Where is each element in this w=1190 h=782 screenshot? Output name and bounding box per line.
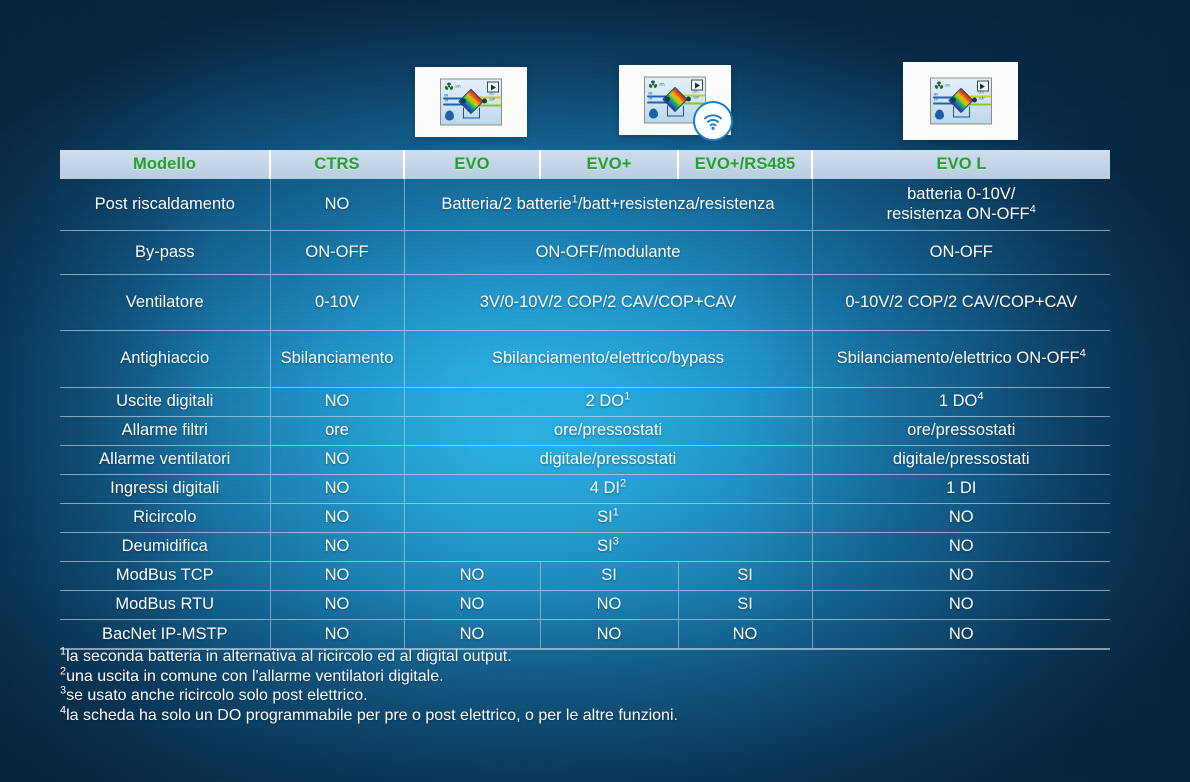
specification-table: ModelloCTRSEVOEVO+EVO+/RS485EVO L Post r… bbox=[60, 150, 1110, 648]
table-cell: 0-10V bbox=[270, 274, 404, 330]
table-cell: NO bbox=[404, 561, 540, 590]
table-cell: NO bbox=[270, 179, 404, 230]
footnotes-block: 1la seconda batteria in alternativa al r… bbox=[60, 647, 1120, 725]
wifi-badge bbox=[693, 101, 733, 141]
table-cell: SI bbox=[540, 561, 678, 590]
water-drop-icon bbox=[445, 111, 454, 121]
slide-page: 28%ONINOUTSUP28%ONINOUTSUP28%ONINOUTSUP … bbox=[0, 0, 1190, 782]
table-body: Post riscaldamentoNOBatteria/2 batterie1… bbox=[60, 179, 1110, 648]
lcd-sensor-node-1 bbox=[665, 97, 670, 102]
lcd-sensor-node-1 bbox=[951, 98, 956, 103]
footnote-2: 2una uscita in comune con l'allarme vent… bbox=[60, 667, 1120, 687]
row-label: ModBus TCP bbox=[60, 561, 270, 590]
table-cell: SI1 bbox=[404, 503, 812, 532]
table-cell: SI3 bbox=[404, 532, 812, 561]
table-row: BacNet IP-MSTPNONONONONO bbox=[60, 619, 1110, 648]
table-row: ModBus TCPNONOSISINO bbox=[60, 561, 1110, 590]
table-cell: 4 DI2 bbox=[404, 474, 812, 503]
table-cell: NO bbox=[270, 503, 404, 532]
table-cell: NO bbox=[540, 619, 678, 648]
table-cell: digitale/pressostati bbox=[404, 445, 812, 474]
controller-lcd-screen: 28%ONINOUTSUP bbox=[930, 78, 992, 125]
table-cell: NO bbox=[270, 474, 404, 503]
table-cell: NO bbox=[270, 590, 404, 619]
lcd-sensor-node-1 bbox=[461, 99, 466, 104]
table-cell: 3V/0-10V/2 COP/2 CAV/COP+CAV bbox=[404, 274, 812, 330]
row-label: Uscite digitali bbox=[60, 387, 270, 416]
table-header-row: ModelloCTRSEVOEVO+EVO+/RS485EVO L bbox=[60, 150, 1110, 179]
row-label: ModBus RTU bbox=[60, 590, 270, 619]
water-drop-icon bbox=[649, 109, 658, 119]
table-row: Allarme filtrioreore/pressostatiore/pres… bbox=[60, 416, 1110, 445]
row-label: Ricircolo bbox=[60, 503, 270, 532]
fan-icon bbox=[934, 81, 944, 91]
table-cell: NO bbox=[404, 590, 540, 619]
lcd-readout-text-3: IN bbox=[934, 98, 938, 102]
lcd-readout-text-1: 28% bbox=[945, 84, 951, 88]
table-row: Ingressi digitaliNO4 DI21 DI bbox=[60, 474, 1110, 503]
table-cell: 2 DO1 bbox=[404, 387, 812, 416]
table-cell: NO bbox=[404, 619, 540, 648]
table-cell: Sbilanciamento/elettrico ON-OFF4 bbox=[812, 330, 1110, 387]
table-cell: ON-OFF bbox=[812, 230, 1110, 274]
table-cell: ore bbox=[270, 416, 404, 445]
fan-icon bbox=[648, 80, 658, 90]
lcd-unit-outline bbox=[953, 107, 970, 118]
row-label: Antighiaccio bbox=[60, 330, 270, 387]
water-drop-icon bbox=[935, 110, 944, 120]
lcd-readout-text-5: SUP bbox=[979, 97, 985, 101]
lcd-sensor-node-2 bbox=[482, 99, 487, 104]
specification-table-container: ModelloCTRSEVOEVO+EVO+/RS485EVO L Post r… bbox=[60, 150, 1110, 650]
table-cell: NO bbox=[812, 619, 1110, 648]
table-cell: NO bbox=[812, 590, 1110, 619]
lcd-readout-text-5: SUP bbox=[693, 96, 699, 100]
table-cell: ON-OFF bbox=[270, 230, 404, 274]
row-label: Ventilatore bbox=[60, 274, 270, 330]
row-label: By-pass bbox=[60, 230, 270, 274]
table-cell: Sbilanciamento/elettrico/bypass bbox=[404, 330, 812, 387]
lcd-readout-text-3: IN bbox=[444, 99, 448, 103]
lcd-unit-outline bbox=[667, 106, 684, 117]
table-header: ModelloCTRSEVOEVO+EVO+/RS485EVO L bbox=[60, 150, 1110, 179]
table-row: Uscite digitaliNO2 DO11 DO4 bbox=[60, 387, 1110, 416]
table-column-header-evo[interactable]: EVO bbox=[404, 150, 540, 179]
table-column-header-modello[interactable]: Modello bbox=[60, 150, 270, 179]
lcd-readout-text-2: ON bbox=[648, 92, 652, 96]
table-row: Post riscaldamentoNOBatteria/2 batterie1… bbox=[60, 179, 1110, 230]
lcd-readout-text-2: ON bbox=[934, 93, 938, 97]
table-cell: Batteria/2 batterie1/batt+resistenza/res… bbox=[404, 179, 812, 230]
table-cell: NO bbox=[678, 619, 812, 648]
table-row: ModBus RTUNONONOSINO bbox=[60, 590, 1110, 619]
table-cell: NO bbox=[540, 590, 678, 619]
table-column-header-evo-rs485[interactable]: EVO+/RS485 bbox=[678, 150, 812, 179]
row-label: Allarme ventilatori bbox=[60, 445, 270, 474]
table-column-header-evo-l[interactable]: EVO L bbox=[812, 150, 1110, 179]
table-cell: 1 DI bbox=[812, 474, 1110, 503]
table-cell: SI bbox=[678, 590, 812, 619]
table-row: RicircoloNOSI1NO bbox=[60, 503, 1110, 532]
lcd-readout-text-4: OUT bbox=[693, 90, 699, 94]
controller-lcd-screen: 28%ONINOUTSUP bbox=[440, 79, 502, 126]
lcd-duct-line-4 bbox=[969, 104, 991, 106]
table-column-header-evo[interactable]: EVO+ bbox=[540, 150, 678, 179]
table-column-header-ctrs[interactable]: CTRS bbox=[270, 150, 404, 179]
lcd-duct-line-4 bbox=[479, 105, 501, 107]
table-cell: NO bbox=[270, 619, 404, 648]
lcd-sensor-node-2 bbox=[686, 97, 691, 102]
table-cell: NO bbox=[270, 532, 404, 561]
row-label: Ingressi digitali bbox=[60, 474, 270, 503]
table-cell: ore/pressostati bbox=[404, 416, 812, 445]
lcd-readout-text-4: OUT bbox=[979, 91, 985, 95]
table-cell: ON-OFF/modulante bbox=[404, 230, 812, 274]
footnote-1: 1la seconda batteria in alternativa al r… bbox=[60, 647, 1120, 667]
row-label: Deumidifica bbox=[60, 532, 270, 561]
lcd-readout-text-1: 28% bbox=[659, 83, 665, 87]
lcd-readout-text-3: IN bbox=[648, 97, 652, 101]
footnote-4: 4la scheda ha solo un DO programmabile p… bbox=[60, 706, 1120, 726]
lcd-readout-text-5: SUP bbox=[489, 98, 495, 102]
table-cell: 1 DO4 bbox=[812, 387, 1110, 416]
table-row: Ventilatore0-10V3V/0-10V/2 COP/2 CAV/COP… bbox=[60, 274, 1110, 330]
table-cell: 0-10V/2 COP/2 CAV/COP+CAV bbox=[812, 274, 1110, 330]
product-card-controller-evo-l: 28%ONINOUTSUP bbox=[903, 62, 1018, 140]
table-cell: batteria 0-10V/resistenza ON-OFF4 bbox=[812, 179, 1110, 230]
product-card-controller-ctrs-evo: 28%ONINOUTSUP bbox=[415, 67, 527, 137]
lcd-sensor-node-2 bbox=[972, 98, 977, 103]
lcd-readout-text-4: OUT bbox=[489, 92, 495, 96]
table-cell: Sbilanciamento bbox=[270, 330, 404, 387]
table-row: AntighiaccioSbilanciamentoSbilanciamento… bbox=[60, 330, 1110, 387]
table-cell: NO bbox=[812, 503, 1110, 532]
table-row: Allarme ventilatoriNOdigitale/pressostat… bbox=[60, 445, 1110, 474]
table-cell: ore/pressostati bbox=[812, 416, 1110, 445]
table-cell: digitale/pressostati bbox=[812, 445, 1110, 474]
table-row: DeumidificaNOSI3NO bbox=[60, 532, 1110, 561]
wifi-icon bbox=[701, 110, 725, 132]
lcd-unit-outline bbox=[463, 108, 480, 119]
row-label: BacNet IP-MSTP bbox=[60, 619, 270, 648]
table-cell: NO bbox=[270, 387, 404, 416]
table-cell: SI bbox=[678, 561, 812, 590]
table-cell: NO bbox=[270, 445, 404, 474]
fan-icon bbox=[444, 82, 454, 92]
lcd-duct-line-2 bbox=[933, 103, 953, 105]
table-cell: NO bbox=[270, 561, 404, 590]
table-cell: NO bbox=[812, 532, 1110, 561]
row-label: Allarme filtri bbox=[60, 416, 270, 445]
footnote-3: 3se usato anche ricircolo solo post elet… bbox=[60, 686, 1120, 706]
lcd-readout-text-1: 28% bbox=[455, 85, 461, 89]
table-cell: NO bbox=[812, 561, 1110, 590]
row-label: Post riscaldamento bbox=[60, 179, 270, 230]
lcd-readout-text-2: ON bbox=[444, 94, 448, 98]
table-row: By-passON-OFFON-OFF/modulanteON-OFF bbox=[60, 230, 1110, 274]
